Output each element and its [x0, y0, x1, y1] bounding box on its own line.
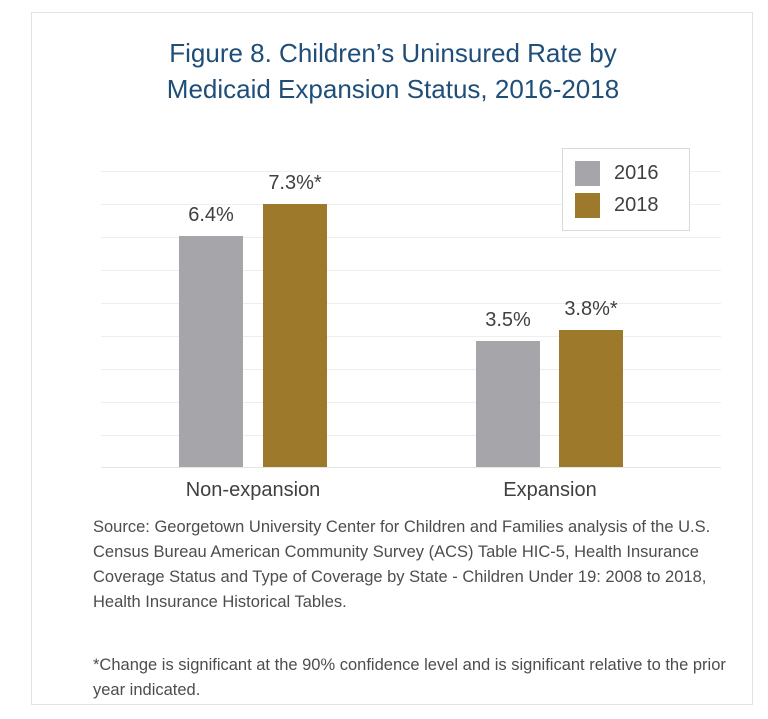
legend-label-2016: 2016	[614, 162, 659, 185]
bar-label-expansion-2018: 3.8%*	[547, 298, 635, 321]
plot-area: 6.4% 7.3%* 3.5% 3.8%* Non-expansion Expa…	[32, 141, 753, 471]
legend-item-2016[interactable]: 2016	[575, 157, 679, 189]
bar-label-expansion-2016: 3.5%	[468, 309, 548, 332]
category-label-expansion: Expansion	[460, 479, 640, 502]
legend-item-2018[interactable]: 2018	[575, 189, 679, 221]
bar-non-expansion-2018[interactable]	[263, 204, 327, 467]
bar-label-non-expansion-2016: 6.4%	[171, 204, 251, 227]
chart-title-line-2: Medicaid Expansion Status, 2016-2018	[32, 71, 753, 107]
bar-non-expansion-2016[interactable]	[179, 236, 243, 467]
bar-expansion-2016[interactable]	[476, 341, 540, 467]
axis-baseline	[101, 467, 721, 468]
chart-legend: 2016 2018	[562, 148, 690, 231]
legend-swatch-2016-icon	[575, 161, 600, 186]
legend-swatch-2018-icon	[575, 193, 600, 218]
bar-label-non-expansion-2018: 7.3%*	[251, 172, 339, 195]
significance-note: *Change is significant at the 90% confid…	[93, 653, 733, 703]
chart-title: Figure 8. Children’s Uninsured Rate by M…	[32, 35, 753, 107]
bar-expansion-2018[interactable]	[559, 330, 623, 467]
legend-label-2018: 2018	[614, 194, 659, 217]
category-label-non-expansion: Non-expansion	[163, 479, 343, 502]
source-note: Source: Georgetown University Center for…	[93, 515, 733, 615]
figure-card: Figure 8. Children’s Uninsured Rate by M…	[31, 12, 753, 705]
chart-title-line-1: Figure 8. Children’s Uninsured Rate by	[32, 35, 753, 71]
